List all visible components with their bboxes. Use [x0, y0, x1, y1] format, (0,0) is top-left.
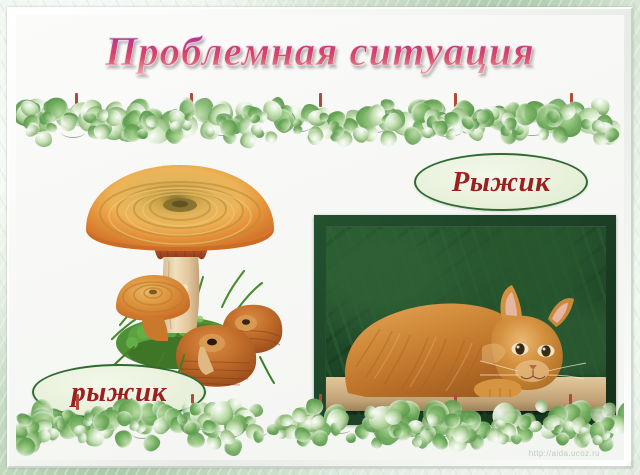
ivy-leaf	[128, 419, 141, 433]
ivy-leaf	[431, 121, 440, 132]
ivy-leaf	[85, 123, 104, 141]
ivy-leaf	[88, 115, 111, 138]
ivy-leaf	[235, 114, 260, 139]
ivy-leaf	[450, 97, 477, 124]
ivy-leaf	[193, 98, 215, 124]
ivy-vine	[435, 425, 460, 438]
ivy-leaf	[406, 96, 436, 124]
ivy-leaf	[170, 111, 200, 140]
mushroom-illustration	[72, 157, 288, 387]
ivy-leaf	[430, 115, 446, 132]
ivy-leaf	[584, 117, 605, 138]
ivy-leaf	[501, 104, 518, 119]
ivy-leaf	[32, 110, 48, 126]
ivy-leaf	[167, 112, 185, 131]
ivy-leaf	[391, 426, 405, 439]
ivy-leaf	[496, 432, 510, 446]
ivy-vine	[290, 429, 316, 437]
ivy-leaf	[328, 130, 343, 144]
ivy-leaf	[104, 109, 123, 129]
ivy-leaf	[409, 114, 436, 142]
ivy-leaf	[197, 415, 216, 432]
ivy-leaf	[131, 107, 154, 128]
ivy-leaf	[425, 426, 436, 438]
ivy-leaf	[410, 435, 424, 449]
ivy-vine	[132, 429, 152, 439]
ivy-leaf	[491, 105, 510, 123]
ivy-leaf	[292, 117, 304, 128]
ivy-leaf	[461, 120, 476, 135]
ivy-leaf	[45, 121, 59, 133]
ivy-vine	[596, 117, 618, 126]
ivy-leaf	[135, 126, 150, 141]
ivy-leaf	[554, 430, 572, 448]
ivy-leaf	[32, 421, 60, 448]
ivy-leaf	[269, 96, 287, 116]
ivy-leaf	[588, 94, 612, 118]
ivy-leaf	[30, 414, 48, 432]
ivy-leaf	[248, 403, 264, 419]
ivy-leaf	[190, 435, 201, 446]
ivy-leaf	[598, 429, 612, 442]
ivy-leaf	[121, 121, 146, 146]
ivy-leaf	[225, 396, 245, 417]
ivy-leaf	[521, 98, 550, 127]
ivy-leaf	[266, 422, 280, 435]
ivy-leaf	[443, 126, 458, 142]
ivy-leaf	[222, 413, 249, 439]
ivy-leaf	[505, 118, 521, 134]
ivy-leaf	[307, 109, 326, 127]
ivy-leaf	[223, 411, 251, 439]
ivy-leaf	[299, 423, 313, 437]
ivy-leaf	[202, 418, 225, 440]
ivy-leaf	[39, 430, 51, 443]
ivy-leaf	[232, 98, 256, 122]
ivy-leaf	[16, 98, 41, 126]
ivy-leaf	[166, 107, 185, 127]
ivy-leaf	[313, 114, 343, 144]
ivy-vine	[434, 126, 462, 138]
ivy-leaf	[175, 413, 189, 427]
ivy-leaf	[16, 100, 39, 127]
ivy-leaf	[376, 109, 404, 136]
cat-figure	[326, 227, 606, 415]
ivy-leaf	[272, 106, 300, 134]
ivy-leaf	[351, 123, 373, 145]
label-oval-mushroom: рыжик	[32, 364, 206, 420]
ivy-leaf	[22, 435, 40, 453]
ivy-leaf	[557, 102, 578, 121]
ivy-leaf	[178, 117, 193, 132]
ivy-vine	[548, 118, 571, 126]
ivy-leaf	[204, 100, 235, 131]
ivy-leaf	[291, 123, 304, 136]
ivy-leaf	[271, 412, 293, 434]
ivy-leaf	[150, 415, 172, 437]
frame-corner-top-left	[7, 7, 16, 16]
ivy-vine	[398, 125, 428, 133]
ivy-leaf	[389, 424, 402, 438]
ivy-leaf	[39, 104, 59, 124]
ivy-leaf	[128, 97, 153, 122]
ivy-leaf	[196, 411, 216, 431]
ivy-leaf	[532, 105, 566, 139]
ivy-leaf	[500, 127, 518, 146]
ivy-leaf	[217, 409, 237, 427]
ivy-leaf	[163, 124, 186, 147]
ivy-leaf	[22, 427, 45, 450]
ivy-leaf	[433, 115, 446, 128]
ivy-leaf	[221, 434, 245, 458]
ivy-leaf	[211, 401, 234, 426]
ivy-leaf	[27, 111, 43, 128]
ivy-leaf	[307, 130, 324, 146]
ivy-leaf	[84, 105, 106, 126]
ivy-vine	[169, 120, 188, 129]
ivy-leaf	[199, 417, 218, 436]
ivy-leaf	[546, 108, 562, 125]
ivy-leaf	[16, 435, 39, 460]
ivy-leaf	[469, 117, 481, 130]
ivy-leaf	[468, 117, 486, 137]
ivy-vine	[177, 422, 204, 430]
ivy-leaf	[481, 104, 501, 123]
ivy-leaf	[513, 125, 525, 136]
ivy-leaf	[21, 418, 46, 443]
ginger-cat-photo	[314, 215, 616, 425]
ivy-leaf	[238, 102, 261, 125]
ivy-leaf	[249, 112, 262, 125]
ivy-leaf	[538, 127, 551, 141]
ivy-leaf	[419, 98, 445, 121]
ivy-vine	[26, 124, 48, 134]
ivy-leaf	[353, 102, 385, 134]
ivy-leaf	[37, 416, 57, 434]
ivy-leaf	[377, 105, 403, 129]
ivy-leaf	[592, 132, 609, 147]
ivy-leaf	[262, 129, 279, 146]
ivy-leaf	[156, 106, 189, 139]
ivy-leaf	[401, 124, 423, 147]
ivy-vine	[474, 118, 499, 127]
ivy-leaf	[183, 419, 199, 435]
label-text-cat: Рыжик	[452, 166, 551, 199]
ivy-leaf	[45, 112, 56, 122]
ivy-leaf	[604, 129, 617, 143]
ivy-leaf	[435, 111, 456, 132]
ivy-leaf	[445, 431, 470, 456]
ivy-leaf	[114, 429, 133, 448]
ivy-leaf	[72, 424, 87, 439]
ivy-leaf	[419, 107, 442, 134]
ivy-leaf	[578, 432, 590, 444]
ivy-leaf	[450, 424, 473, 446]
ivy-leaf	[474, 106, 494, 126]
ivy-leaf	[246, 105, 266, 125]
ivy-leaf	[499, 110, 518, 129]
ivy-leaf	[23, 122, 41, 139]
ivy-vine	[322, 118, 349, 129]
ivy-leaf	[380, 98, 396, 112]
ivy-leaf	[196, 116, 222, 143]
ivy-leaf	[142, 117, 173, 146]
ivy-leaf	[184, 429, 208, 452]
ivy-leaf	[200, 421, 218, 438]
ivy-leaf	[222, 417, 246, 441]
ivy-leaf	[591, 119, 605, 134]
title-area: Проблемная ситуация	[16, 27, 624, 75]
ivy-leaf	[96, 419, 117, 441]
ivy-leaf	[603, 125, 621, 143]
ivy-leaf	[254, 110, 270, 126]
photo-inner	[325, 226, 606, 415]
ivy-leaf	[508, 431, 523, 446]
ivy-leaf	[87, 116, 109, 138]
ivy-leaf	[412, 430, 432, 449]
ivy-leaf	[177, 95, 195, 112]
ivy-leaf	[45, 426, 61, 442]
ivy-vine	[516, 426, 532, 439]
ivy-leaf	[205, 432, 223, 452]
ivy-leaf	[386, 109, 400, 123]
ivy-leaf	[570, 102, 606, 138]
ivy-leaf	[408, 96, 439, 127]
slide: Проблемная ситуация	[0, 0, 640, 475]
ivy-leaf	[220, 115, 244, 136]
ivy-leaf	[544, 96, 571, 125]
ivy-leaf	[594, 118, 617, 141]
ivy-leaf	[294, 407, 313, 426]
ivy-leaf	[577, 429, 592, 444]
ivy-leaf	[17, 414, 35, 433]
ivy-leaf	[415, 105, 441, 131]
ivy-stem	[570, 93, 573, 107]
ivy-leaf	[444, 111, 460, 125]
ivy-leaf	[544, 109, 565, 130]
ivy-leaf	[383, 111, 404, 133]
ivy-leaf	[416, 427, 436, 447]
ivy-leaf	[103, 111, 123, 131]
ivy-vine	[61, 126, 85, 138]
ivy-leaf	[61, 111, 81, 129]
ivy-vine	[363, 125, 386, 133]
ivy-leaf	[407, 100, 434, 127]
ivy-leaf	[179, 410, 198, 430]
ivy-leaf	[425, 114, 441, 130]
ivy-leaf	[427, 126, 436, 137]
ivy-leaf	[156, 415, 173, 433]
ivy-leaf	[37, 110, 55, 129]
ivy-leaf	[386, 109, 406, 129]
ivy-leaf	[598, 435, 614, 452]
ivy-leaf	[232, 406, 252, 426]
ivy-leaf	[83, 427, 106, 449]
ivy-leaf	[484, 104, 513, 134]
ivy-leaf	[505, 101, 521, 118]
ivy-leaf	[211, 100, 235, 124]
ivy-leaf	[314, 107, 334, 130]
ivy-leaf	[136, 108, 158, 130]
ivy-leaf	[93, 124, 109, 140]
ivy-leaf	[469, 434, 485, 450]
ivy-leaf	[37, 108, 52, 123]
ivy-leaf	[344, 107, 367, 129]
ivy-leaf	[476, 106, 495, 124]
ivy-leaf	[363, 101, 389, 129]
ivy-leaf	[24, 418, 42, 436]
ivy-vine	[132, 121, 149, 132]
ivy-vine	[55, 422, 74, 432]
ivy-leaf	[135, 422, 147, 434]
ivy-leaf	[591, 434, 603, 446]
ivy-leaf	[138, 105, 158, 126]
frame-corner-bottom-right	[624, 459, 633, 468]
ivy-leaf	[469, 106, 495, 132]
ivy-leaf	[102, 98, 126, 121]
ivy-leaf	[65, 97, 98, 130]
ivy-leaf	[306, 124, 327, 145]
ivy-leaf	[119, 112, 144, 137]
ivy-leaf	[459, 114, 476, 132]
ivy-vine	[550, 427, 577, 436]
ivy-leaf	[42, 99, 64, 118]
ivy-leaf	[40, 110, 56, 126]
ivy-stem	[75, 93, 78, 107]
ivy-leaf	[409, 99, 434, 123]
ivy-leaf	[283, 424, 300, 441]
ivy-leaf	[466, 123, 487, 143]
ivy-leaf	[297, 101, 324, 128]
ivy-leaf	[77, 432, 88, 444]
ivy-leaf	[380, 112, 395, 126]
ivy-leaf	[25, 120, 41, 137]
ivy-leaf	[167, 413, 190, 436]
ivy-vine	[246, 425, 268, 437]
ivy-leaf	[318, 112, 329, 122]
ivy-leaf	[214, 99, 231, 115]
ivy-leaf	[276, 428, 288, 440]
ivy-leaf	[433, 122, 448, 137]
ivy-leaf	[294, 431, 312, 449]
ivy-leaf	[326, 119, 340, 134]
ivy-leaf	[593, 112, 615, 134]
ivy-leaf	[99, 117, 126, 142]
ivy-leaf	[310, 428, 331, 449]
ivy-leaf	[577, 431, 593, 448]
ivy-leaf	[20, 111, 43, 133]
ivy-leaf	[35, 419, 52, 433]
ivy-leaf	[165, 107, 188, 131]
ivy-leaf	[444, 104, 475, 136]
ivy-leaf	[177, 416, 194, 435]
ivy-leaf	[434, 120, 449, 136]
ivy-leaf	[324, 108, 348, 131]
ivy-leaf	[95, 108, 111, 124]
ivy-leaf	[270, 106, 298, 135]
ivy-leaf	[430, 109, 453, 132]
ivy-vine	[247, 122, 268, 136]
ivy-garland-top	[16, 93, 624, 139]
ivy-leaf	[16, 412, 35, 430]
ivy-leaf	[202, 124, 217, 139]
label-text-mushroom: рыжик	[71, 376, 167, 409]
ivy-leaf	[34, 130, 53, 148]
ivy-leaf	[202, 399, 221, 418]
ivy-stem	[319, 93, 322, 107]
ivy-leaf	[279, 413, 294, 426]
ivy-leaf	[552, 106, 585, 140]
ivy-leaf	[504, 111, 528, 132]
ivy-leaf	[16, 97, 40, 130]
ivy-leaf	[563, 97, 588, 122]
ivy-vine	[329, 425, 350, 433]
ivy-leaf	[183, 111, 195, 122]
ivy-vine	[94, 121, 111, 134]
ivy-leaf	[473, 111, 487, 126]
ivy-leaf	[119, 131, 128, 142]
ivy-leaf	[204, 415, 221, 432]
ivy-leaf	[45, 97, 68, 121]
ivy-leaf	[360, 124, 381, 145]
ivy-leaf	[564, 105, 586, 127]
ivy-leaf	[505, 105, 522, 122]
ivy-leaf	[345, 432, 357, 444]
ivy-leaf	[182, 417, 203, 438]
ivy-leaf	[252, 429, 264, 443]
ivy-leaf	[237, 128, 260, 152]
slide-content: Проблемная ситуация	[16, 15, 624, 460]
page-title: Проблемная ситуация	[105, 27, 535, 75]
ivy-leaf	[459, 425, 480, 445]
ivy-leaf	[292, 425, 314, 446]
watermark: http://aida.ucoz.ru	[529, 449, 600, 458]
ivy-leaf	[57, 419, 81, 442]
ivy-leaf	[369, 435, 385, 451]
ivy-leaf	[255, 129, 264, 138]
ivy-leaf	[280, 100, 310, 130]
ivy-leaf	[141, 114, 158, 131]
ivy-leaf	[24, 406, 60, 441]
ivy-leaf	[449, 109, 470, 127]
ivy-leaf	[457, 107, 480, 134]
ivy-leaf	[502, 116, 519, 133]
ivy-leaf	[16, 413, 27, 430]
ivy-leaf	[54, 418, 67, 432]
ivy-leaf	[233, 406, 260, 433]
ivy-leaf	[422, 107, 442, 129]
ivy-leaf	[145, 115, 158, 128]
ivy-leaf	[243, 415, 253, 425]
ivy-leaf	[244, 421, 266, 443]
ivy-leaf	[429, 431, 451, 453]
ivy-leaf	[412, 432, 430, 451]
ivy-leaf	[249, 123, 263, 137]
ivy-leaf	[76, 108, 100, 133]
ivy-leaf	[577, 425, 591, 439]
ivy-stem	[454, 93, 457, 107]
ivy-leaf	[98, 102, 133, 137]
ivy-leaf	[123, 100, 150, 126]
ivy-leaf	[28, 112, 53, 136]
ivy-leaf	[388, 107, 421, 140]
ivy-leaf	[58, 112, 79, 133]
ivy-leaf	[347, 111, 369, 131]
ivy-leaf	[76, 95, 105, 123]
ivy-leaf	[215, 115, 228, 129]
ivy-vine	[292, 122, 310, 132]
ivy-vine	[214, 422, 237, 433]
